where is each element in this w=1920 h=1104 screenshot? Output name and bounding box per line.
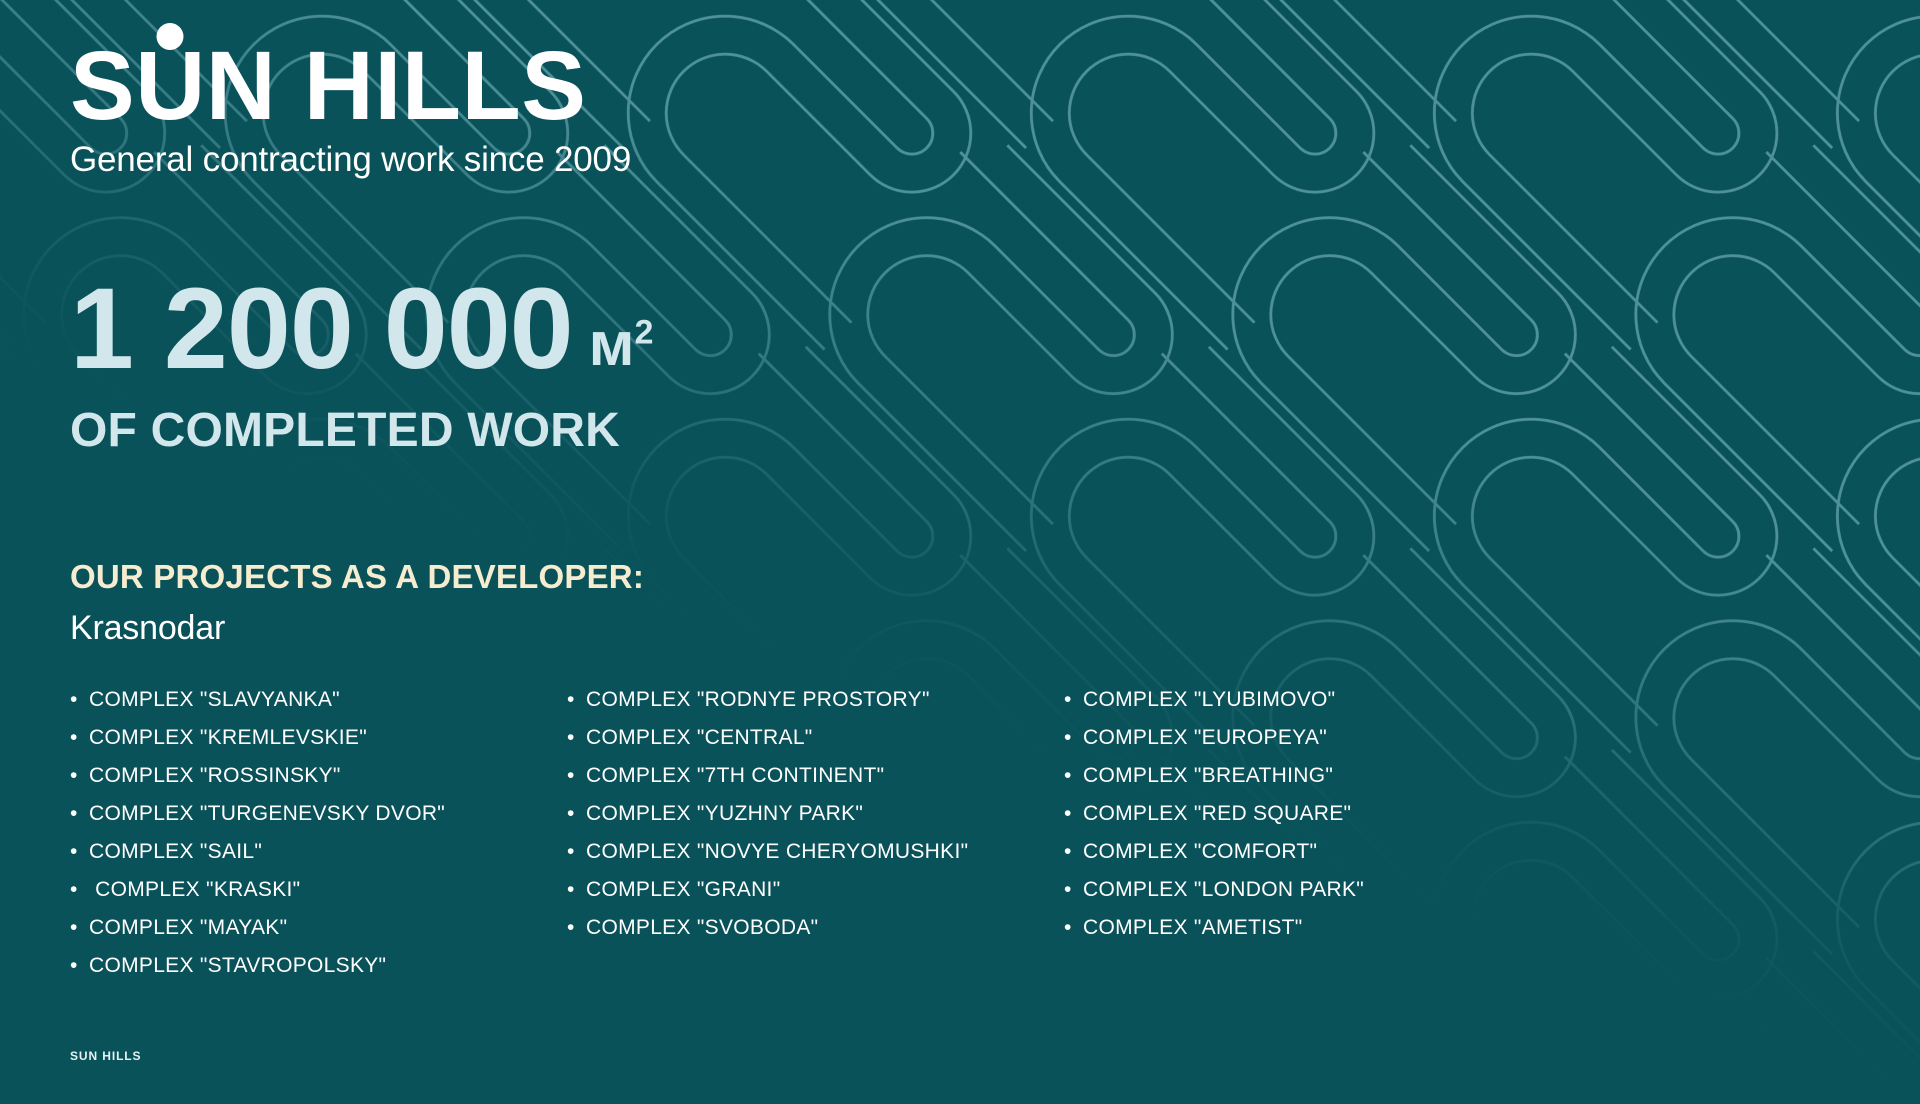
- project-label: COMPLEX "MAYAK": [89, 909, 287, 947]
- list-item: •COMPLEX "RED SQUARE": [1064, 795, 1484, 833]
- bullet-icon: •: [70, 833, 89, 871]
- bullet-icon: •: [1064, 833, 1083, 871]
- bullet-icon: •: [1064, 795, 1083, 833]
- project-label: COMPLEX "KRASKI": [89, 871, 300, 909]
- project-label: COMPLEX "SAIL": [89, 833, 262, 871]
- project-label: COMPLEX "SVOBODA": [586, 909, 818, 947]
- bullet-icon: •: [1064, 719, 1083, 757]
- project-label: COMPLEX "YUZHNY PARK": [586, 795, 863, 833]
- project-column-2: •COMPLEX "RODNYE PROSTORY"•COMPLEX "CENT…: [567, 681, 1064, 985]
- logo-wordmark: SUN HILLS: [70, 40, 631, 132]
- bullet-icon: •: [70, 681, 89, 719]
- projects-heading: OUR PROJECTS AS A DEVELOPER:: [70, 558, 1470, 596]
- bullet-icon: •: [1064, 909, 1083, 947]
- logo-u-with-sun: U: [135, 40, 206, 132]
- project-label: COMPLEX "NOVYE CHERYOMUSHKI": [586, 833, 968, 871]
- bullet-icon: •: [567, 795, 586, 833]
- project-label: COMPLEX "CENTRAL": [586, 719, 813, 757]
- list-item: •COMPLEX "AMETIST": [1064, 909, 1484, 947]
- stat-caption: OF COMPLETED WORK: [70, 403, 653, 458]
- list-item: •COMPLEX "RODNYE PROSTORY": [567, 681, 1064, 719]
- list-item: •COMPLEX "SAIL": [70, 833, 567, 871]
- logo-tagline: General contracting work since 2009: [70, 140, 631, 180]
- project-label: COMPLEX "RODNYE PROSTORY": [586, 681, 930, 719]
- list-item: •COMPLEX "COMFORT": [1064, 833, 1484, 871]
- projects-section: OUR PROJECTS AS A DEVELOPER: Krasnodar •…: [70, 558, 1470, 985]
- list-item: •COMPLEX "YUZHNY PARK": [567, 795, 1064, 833]
- list-item: •COMPLEX "STAVROPOLSKY": [70, 947, 567, 985]
- list-item: •COMPLEX "SVOBODA": [567, 909, 1064, 947]
- project-label: COMPLEX "KREMLEVSKIE": [89, 719, 367, 757]
- bullet-icon: •: [70, 795, 89, 833]
- project-label: COMPLEX "LYUBIMOVO": [1083, 681, 1335, 719]
- project-label: COMPLEX "BREATHING": [1083, 757, 1333, 795]
- brand-logo-block: SUN HILLS General contracting work since…: [70, 40, 631, 180]
- bullet-icon: •: [70, 871, 89, 909]
- project-label: COMPLEX "7TH CONTINENT": [586, 757, 884, 795]
- bullet-icon: •: [1064, 871, 1083, 909]
- project-column-3: •COMPLEX "LYUBIMOVO"•COMPLEX "EUROPEYA"•…: [1064, 681, 1484, 985]
- project-label: COMPLEX "TURGENEVSKY DVOR": [89, 795, 445, 833]
- list-item: •COMPLEX "MAYAK": [70, 909, 567, 947]
- list-item: • COMPLEX "KRASKI": [70, 871, 567, 909]
- headline-stat-block: 1 200 000 м2 OF COMPLETED WORK: [70, 272, 653, 458]
- logo-word-part1: S: [70, 31, 135, 140]
- project-label: COMPLEX "SLAVYANKA": [89, 681, 340, 719]
- project-label: COMPLEX "GRANI": [586, 871, 780, 909]
- list-item: •COMPLEX "LYUBIMOVO": [1064, 681, 1484, 719]
- stat-number: 1 200 000: [70, 272, 573, 387]
- bullet-icon: •: [70, 947, 89, 985]
- bullet-icon: •: [70, 909, 89, 947]
- list-item: •COMPLEX "EUROPEYA": [1064, 719, 1484, 757]
- list-item: •COMPLEX "SLAVYANKA": [70, 681, 567, 719]
- list-item: •COMPLEX "CENTRAL": [567, 719, 1064, 757]
- stat-number-row: 1 200 000 м2: [70, 272, 653, 387]
- bullet-icon: •: [567, 757, 586, 795]
- project-label: COMPLEX "COMFORT": [1083, 833, 1317, 871]
- bullet-icon: •: [567, 871, 586, 909]
- list-item: •COMPLEX "KREMLEVSKIE": [70, 719, 567, 757]
- list-item: •COMPLEX "BREATHING": [1064, 757, 1484, 795]
- sun-dot-icon: [157, 23, 184, 50]
- slide-content: SUN HILLS General contracting work since…: [0, 0, 1920, 1104]
- project-label: COMPLEX "RED SQUARE": [1083, 795, 1351, 833]
- stat-unit-letter: м: [589, 310, 635, 379]
- bullet-icon: •: [567, 719, 586, 757]
- list-item: •COMPLEX "TURGENEVSKY DVOR": [70, 795, 567, 833]
- list-item: •COMPLEX "7TH CONTINENT": [567, 757, 1064, 795]
- list-item: •COMPLEX "NOVYE CHERYOMUSHKI": [567, 833, 1064, 871]
- projects-city: Krasnodar: [70, 609, 1470, 648]
- list-item: •COMPLEX "ROSSINSKY": [70, 757, 567, 795]
- logo-word-part3: N HILLS: [206, 31, 587, 140]
- project-label: COMPLEX "AMETIST": [1083, 909, 1303, 947]
- project-column-1: •COMPLEX "SLAVYANKA"•COMPLEX "KREMLEVSKI…: [70, 681, 567, 985]
- project-label: COMPLEX "EUROPEYA": [1083, 719, 1327, 757]
- bullet-icon: •: [1064, 681, 1083, 719]
- bullet-icon: •: [1064, 757, 1083, 795]
- bullet-icon: •: [567, 909, 586, 947]
- projects-columns: •COMPLEX "SLAVYANKA"•COMPLEX "KREMLEVSKI…: [70, 681, 1470, 985]
- list-item: •COMPLEX "LONDON PARK": [1064, 871, 1484, 909]
- bullet-icon: •: [567, 833, 586, 871]
- project-label: COMPLEX "ROSSINSKY": [89, 757, 341, 795]
- stat-unit: м2: [589, 314, 654, 376]
- list-item: •COMPLEX "GRANI": [567, 871, 1064, 909]
- footer-logo: SUN HILLS: [70, 1049, 141, 1063]
- stat-unit-exponent: 2: [634, 313, 653, 351]
- project-label: COMPLEX "LONDON PARK": [1083, 871, 1364, 909]
- bullet-icon: •: [70, 757, 89, 795]
- bullet-icon: •: [70, 719, 89, 757]
- bullet-icon: •: [567, 681, 586, 719]
- project-label: COMPLEX "STAVROPOLSKY": [89, 947, 386, 985]
